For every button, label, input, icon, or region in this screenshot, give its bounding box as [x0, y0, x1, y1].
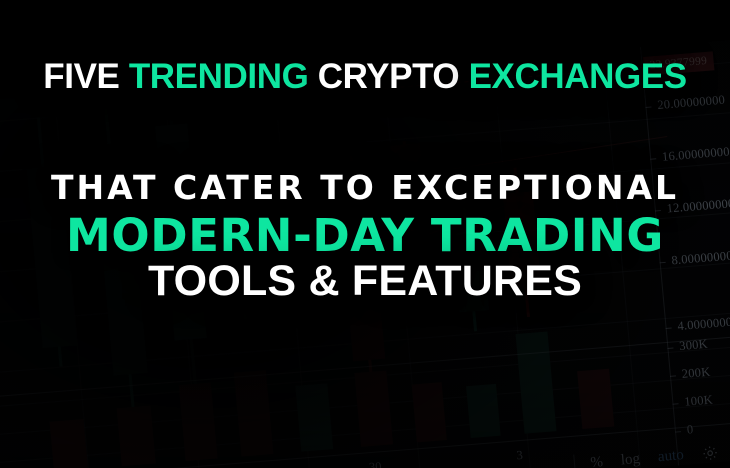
- volume-bar: [466, 384, 501, 438]
- toolbar-separator: [573, 455, 576, 468]
- percent-scale-button[interactable]: %: [590, 454, 604, 468]
- candle-body: [221, 229, 259, 301]
- volume-axis-label: 200K: [681, 365, 711, 382]
- volume-axis-label: 0: [686, 422, 694, 437]
- volume-axis-label: 100K: [684, 393, 714, 410]
- volume-bar: [354, 371, 393, 447]
- candle-body: [390, 143, 424, 185]
- volume-bar: [117, 406, 156, 466]
- volume-bar: [412, 382, 447, 442]
- volume-bar: [50, 419, 88, 468]
- volume-bar: [577, 369, 614, 429]
- trading-chart-background: 23.9377999 20.00000000 16.00000000 12.00…: [0, 38, 730, 468]
- gear-icon[interactable]: [701, 443, 719, 461]
- volume-bar: [179, 383, 218, 461]
- log-scale-button[interactable]: log: [620, 450, 641, 468]
- poster-canvas: 23.9377999 20.00000000 16.00000000 12.00…: [0, 0, 730, 468]
- volume-axis-label: 300K: [679, 337, 709, 354]
- volume-bar: [295, 383, 333, 451]
- auto-scale-button[interactable]: auto: [657, 447, 684, 466]
